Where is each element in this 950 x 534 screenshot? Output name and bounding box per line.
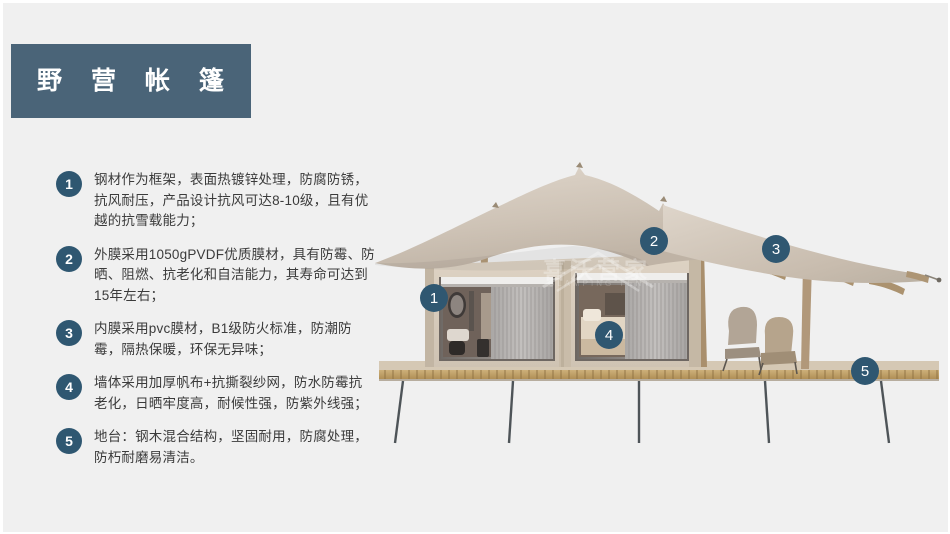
list-item: 2 外膜采用1050gPVDF优质膜材，具有防霉、防晒、阻燃、抗老化和自洁能力，… <box>56 245 376 307</box>
photo-marker-4[interactable]: 4 <box>595 321 623 349</box>
deck-legs <box>395 381 889 443</box>
list-item: 5 地台：钢木混合结构，坚固耐用，防腐处理，防朽耐磨易清洁。 <box>56 427 376 468</box>
tent-product-photo <box>373 153 949 463</box>
feature-text-2: 外膜采用1050gPVDF优质膜材，具有防霉、防晒、阻燃、抗老化和自洁能力，其寿… <box>94 245 376 307</box>
feature-text-3: 内膜采用pvc膜材，B1级防火标准，防潮防霉，隔热保暖，环保无异味； <box>94 319 376 360</box>
feature-text-5: 地台：钢木混合结构，坚固耐用，防腐处理，防朽耐磨易清洁。 <box>94 427 376 468</box>
feature-number-badge-4: 4 <box>56 374 82 400</box>
feature-number-badge-5: 5 <box>56 428 82 454</box>
list-item: 1 钢材作为框架，表面热镀锌处理，防腐防锈，抗风耐压，产品设计抗风可达8-10级… <box>56 170 376 232</box>
feature-number-badge-2: 2 <box>56 246 82 272</box>
feature-number-badge-1: 1 <box>56 171 82 197</box>
page-title-badge: 野 营 帐 篷 <box>11 44 251 118</box>
window-left <box>439 277 555 361</box>
feature-text-4: 墙体采用加厚帆布+抗撕裂纱网，防水防霉抗老化，日晒牢度高，耐候性强，防紫外线强； <box>94 373 376 414</box>
photo-marker-1[interactable]: 1 <box>420 284 448 312</box>
photo-marker-3[interactable]: 3 <box>762 235 790 263</box>
feature-number-badge-3: 3 <box>56 320 82 346</box>
list-item: 3 内膜采用pvc膜材，B1级防火标准，防潮防霉，隔热保暖，环保无异味； <box>56 319 376 360</box>
feature-text-1: 钢材作为框架，表面热镀锌处理，防腐防锈，抗风耐压，产品设计抗风可达8-10级，且… <box>94 170 376 232</box>
photo-marker-5[interactable]: 5 <box>851 357 879 385</box>
page-title: 野 营 帐 篷 <box>37 69 235 94</box>
list-item: 4 墙体采用加厚帆布+抗撕裂纱网，防水防霉抗老化，日晒牢度高，耐候性强，防紫外线… <box>56 373 376 414</box>
window-right <box>575 273 689 361</box>
slide-root: 野 营 帐 篷 1 钢材作为框架，表面热镀锌处理，防腐防锈，抗风耐压，产品设计抗… <box>0 0 950 534</box>
photo-marker-2[interactable]: 2 <box>640 227 668 255</box>
feature-list: 1 钢材作为框架，表面热镀锌处理，防腐防锈，抗风耐压，产品设计抗风可达8-10级… <box>56 170 376 481</box>
